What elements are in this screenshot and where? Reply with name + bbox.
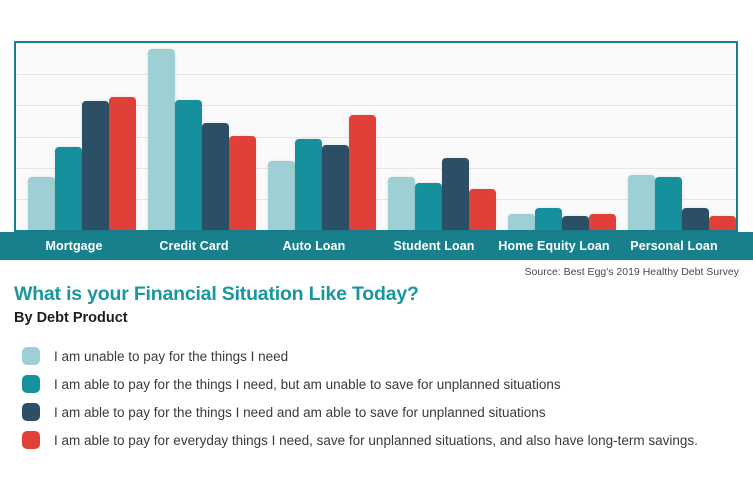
chart-plot-area [14, 41, 738, 232]
chart-legend: I am unable to pay for the things I need… [22, 346, 742, 458]
category-label-mortgage: Mortgage [14, 232, 134, 260]
legend-swatch-icon [22, 375, 40, 393]
category-label-personal-loan: Personal Loan [614, 232, 734, 260]
bar-student-loan-series-3 [469, 189, 496, 230]
category-axis-band: MortgageCredit CardAuto LoanStudent Loan… [0, 232, 753, 260]
legend-item[interactable]: I am able to pay for the things I need a… [22, 402, 742, 423]
legend-item-label: I am able to pay for the things I need a… [54, 402, 546, 423]
bar-student-loan-series-0 [388, 177, 415, 230]
bar-personal-loan-series-0 [628, 175, 655, 230]
bar-home-equity-loan-series-2 [562, 216, 589, 230]
legend-swatch-icon [22, 431, 40, 449]
category-label-home-equity-loan: Home Equity Loan [494, 232, 614, 260]
bar-student-loan-series-1 [415, 183, 442, 230]
source-attribution: Source: Best Egg's 2019 Healthy Debt Sur… [525, 266, 739, 278]
bar-group [136, 43, 268, 230]
bar-auto-loan-series-1 [295, 139, 322, 230]
category-label-credit-card: Credit Card [134, 232, 254, 260]
bar-home-equity-loan-series-0 [508, 214, 535, 230]
legend-item-label: I am able to pay for everyday things I n… [54, 430, 698, 451]
bar-home-equity-loan-series-3 [589, 214, 616, 230]
bar-credit-card-series-1 [175, 100, 202, 230]
bar-group [616, 43, 748, 230]
bar-home-equity-loan-series-1 [535, 208, 562, 230]
bar-credit-card-series-0 [148, 49, 175, 230]
bar-group [496, 43, 628, 230]
legend-item[interactable]: I am unable to pay for the things I need [22, 346, 742, 367]
bar-student-loan-series-2 [442, 158, 469, 230]
bar-personal-loan-series-1 [655, 177, 682, 230]
bar-mortgage-series-1 [55, 147, 82, 230]
bar-mortgage-series-0 [28, 177, 55, 230]
bar-group [256, 43, 388, 230]
bar-groups-container [16, 43, 736, 230]
bar-personal-loan-series-3 [709, 216, 736, 230]
bar-auto-loan-series-0 [268, 161, 295, 230]
bar-auto-loan-series-2 [322, 145, 349, 230]
bar-auto-loan-series-3 [349, 115, 376, 230]
legend-item[interactable]: I am able to pay for the things I need, … [22, 374, 742, 395]
bar-group [16, 43, 148, 230]
legend-swatch-icon [22, 347, 40, 365]
category-label-student-loan: Student Loan [374, 232, 494, 260]
category-label-auto-loan: Auto Loan [254, 232, 374, 260]
bar-credit-card-series-2 [202, 123, 229, 230]
bar-group [376, 43, 508, 230]
bar-mortgage-series-2 [82, 101, 109, 230]
bar-mortgage-series-3 [109, 97, 136, 230]
legend-item-label: I am unable to pay for the things I need [54, 346, 288, 367]
chart-subtitle: By Debt Product [14, 310, 128, 326]
bar-personal-loan-series-2 [682, 208, 709, 230]
legend-item-label: I am able to pay for the things I need, … [54, 374, 561, 395]
chart-title: What is your Financial Situation Like To… [14, 283, 419, 306]
legend-swatch-icon [22, 403, 40, 421]
bar-credit-card-series-3 [229, 136, 256, 230]
legend-item[interactable]: I am able to pay for everyday things I n… [22, 430, 742, 451]
